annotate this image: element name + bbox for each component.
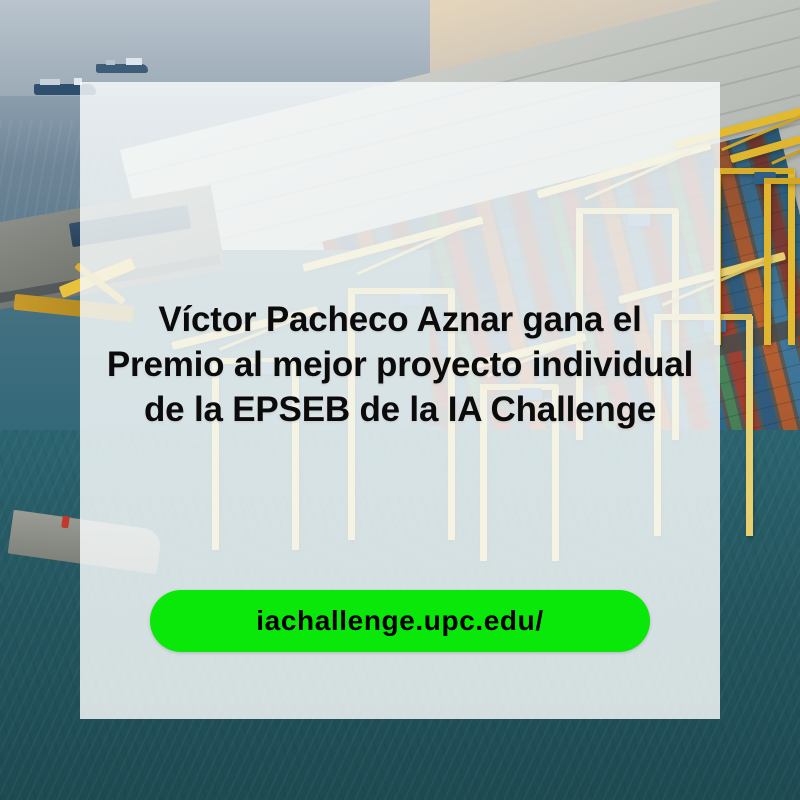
website-link-button[interactable]: iachallenge.upc.edu/ bbox=[150, 590, 650, 652]
gantry-crane bbox=[752, 118, 800, 333]
card-content: Víctor Pacheco Aznar gana el Premio al m… bbox=[80, 82, 720, 719]
cta-container: iachallenge.upc.edu/ bbox=[80, 590, 720, 652]
announcement-card: Víctor Pacheco Aznar gana el Premio al m… bbox=[0, 0, 800, 800]
page-title: Víctor Pacheco Aznar gana el Premio al m… bbox=[104, 298, 696, 432]
cargo-ship bbox=[96, 64, 148, 73]
